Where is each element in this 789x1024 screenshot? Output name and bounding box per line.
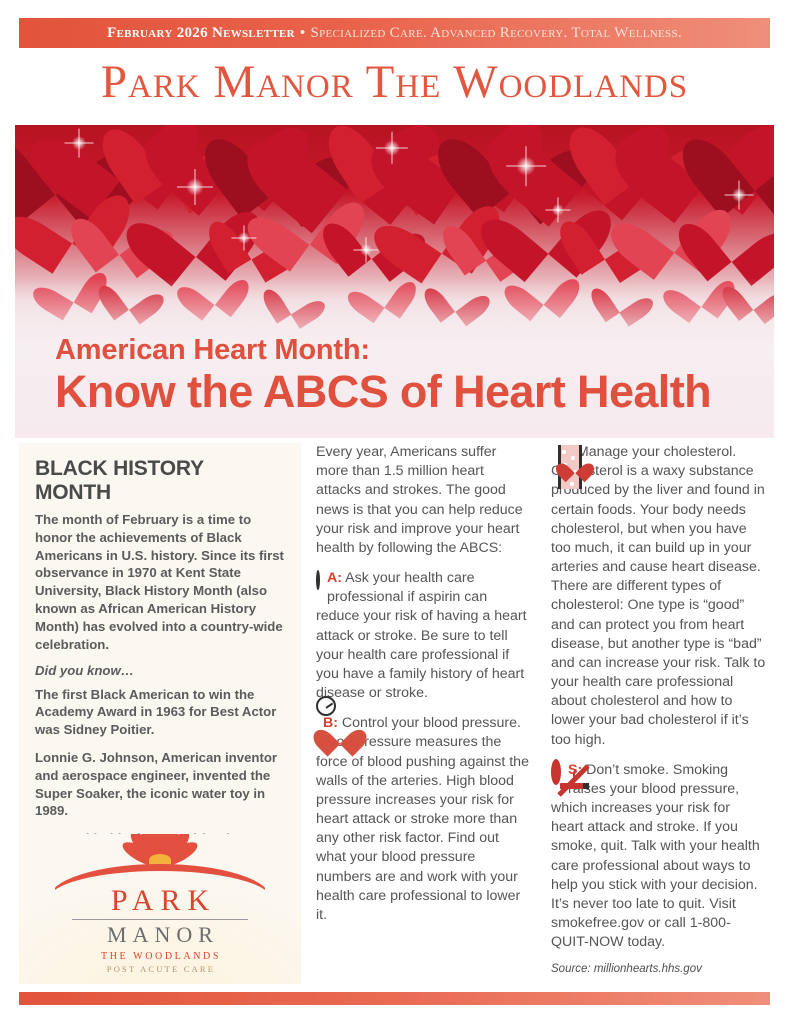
hero-title: Know the ABCS of Heart Health bbox=[55, 369, 711, 416]
abcs-item-a: A: Ask your health care professional if … bbox=[316, 569, 531, 703]
tagline: Specialized Care. Advanced Recovery. Tot… bbox=[310, 25, 681, 41]
abcs-item-c: C: Manage your cholesterol. Cholesterol … bbox=[551, 443, 766, 750]
flower-petals-icon bbox=[85, 834, 235, 868]
park-manor-logo: PARK MANOR THE WOODLANDS POST ACUTE CARE bbox=[19, 834, 301, 984]
article-column-middle: Every year, Americans suffer more than 1… bbox=[316, 443, 531, 925]
issue-banner-text: February 2026 Newsletter•Specialized Car… bbox=[107, 25, 682, 42]
sidebar-title: BLACK HISTORY MONTH bbox=[35, 457, 285, 505]
logo-divider bbox=[72, 919, 248, 920]
masthead-title: Park Manor The Woodlands bbox=[0, 55, 789, 109]
logo-woodlands-text: THE WOODLANDS bbox=[50, 951, 270, 962]
aspirin-pill-icon bbox=[316, 571, 320, 590]
abcs-item-s: S: Don’t smoke. Smoking raises your bloo… bbox=[551, 761, 766, 953]
article-intro: Every year, Americans suffer more than 1… bbox=[316, 443, 531, 558]
logo-manor-text: MANOR bbox=[50, 922, 270, 948]
logo-arc bbox=[55, 864, 265, 890]
sidebar-black-history-month: BLACK HISTORY MONTH The month of Februar… bbox=[19, 443, 301, 984]
sidebar-fact: The first Black American to win the Acad… bbox=[35, 686, 285, 739]
sidebar-fact: Lonnie G. Johnson, American inventor and… bbox=[35, 749, 285, 820]
issue-label: February 2026 Newsletter bbox=[107, 25, 295, 41]
banner-separator-dot: • bbox=[295, 25, 311, 41]
article-source: Source: millionhearts.hhs.gov bbox=[551, 963, 766, 975]
logo-post-acute-text: POST ACUTE CARE bbox=[50, 964, 270, 974]
abcs-letter-a: A: bbox=[327, 570, 342, 586]
hero-title-block: American Heart Month: Know the ABCS of H… bbox=[55, 334, 711, 416]
issue-banner: February 2026 Newsletter•Specialized Car… bbox=[19, 18, 770, 48]
abcs-text-c: Manage your cholesterol. Cholesterol is … bbox=[551, 444, 765, 748]
sidebar-did-you-know: Did you know… bbox=[35, 663, 285, 678]
newsletter-page: February 2026 Newsletter•Specialized Car… bbox=[0, 0, 789, 1024]
abcs-item-b: B: Control your blood pressure. Blood pr… bbox=[316, 714, 531, 925]
abcs-text-s: Don’t smoke. Smoking raises your blood p… bbox=[551, 762, 760, 951]
abcs-text-a: Ask your health care professional if asp… bbox=[316, 570, 527, 701]
sidebar-intro: The month of February is a time to honor… bbox=[35, 511, 285, 654]
no-smoking-icon bbox=[551, 763, 561, 782]
footer-bar bbox=[19, 992, 770, 1005]
hero-banner: American Heart Month: Know the ABCS of H… bbox=[15, 125, 774, 438]
hero-kicker: American Heart Month: bbox=[55, 334, 711, 367]
article-column-right: C: Manage your cholesterol. Cholesterol … bbox=[551, 443, 766, 975]
content-columns: BLACK HISTORY MONTH The month of Februar… bbox=[0, 443, 789, 988]
